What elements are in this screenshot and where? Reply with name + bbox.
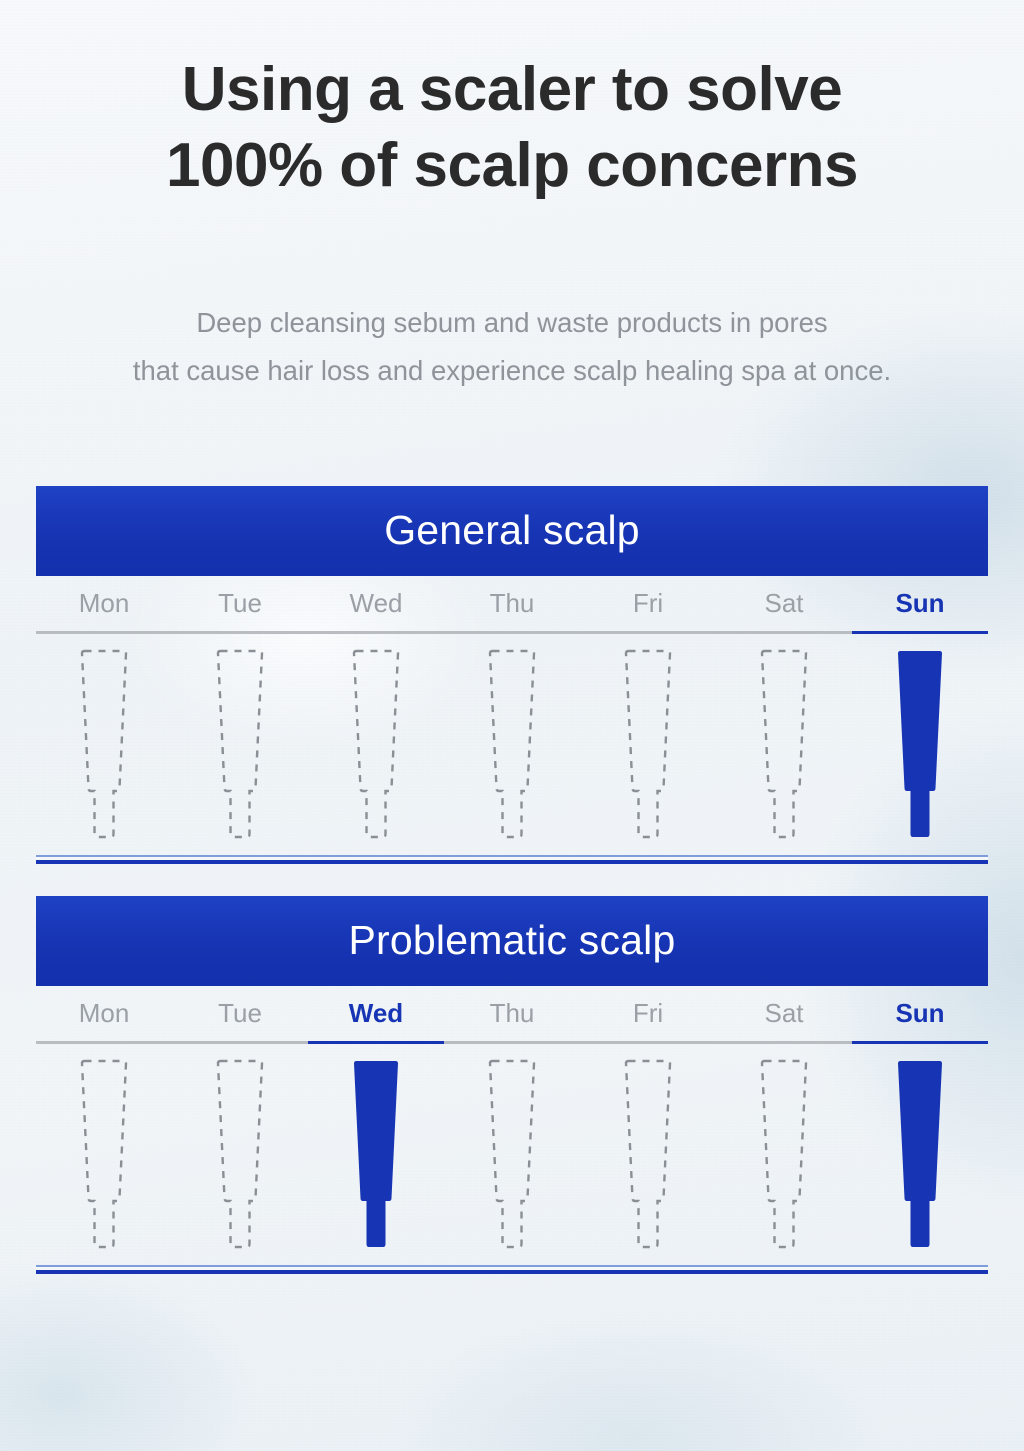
bottle-cell-wed[interactable] bbox=[308, 648, 444, 842]
page-subtitle-line-1: Deep cleansing sebum and waste products … bbox=[0, 299, 1024, 346]
day-tab-label: Thu bbox=[490, 588, 535, 618]
day-tab-label: Thu bbox=[490, 998, 535, 1028]
bottle-cell-sat[interactable] bbox=[716, 1058, 852, 1252]
banner-title: Problematic scalp bbox=[349, 917, 676, 964]
section-general-scalp: General scalp MonTueWedThuFriSatSun bbox=[36, 486, 988, 864]
bottle-icon-outline bbox=[617, 1058, 679, 1252]
bottle-icon-filled bbox=[889, 648, 951, 842]
bottle-shape bbox=[354, 651, 398, 837]
bottle-shape bbox=[762, 1061, 806, 1247]
day-tab-fri[interactable]: Fri bbox=[580, 998, 716, 1044]
bottle-shape bbox=[218, 651, 262, 837]
day-tab-fri[interactable]: Fri bbox=[580, 588, 716, 634]
baseline-rule-problematic bbox=[36, 1265, 988, 1274]
bottle-cell-thu[interactable] bbox=[444, 1058, 580, 1252]
day-tab-sat[interactable]: Sat bbox=[716, 588, 852, 634]
bottle-shape bbox=[490, 651, 534, 837]
day-tab-mon[interactable]: Mon bbox=[36, 998, 172, 1044]
day-tab-sun[interactable]: Sun bbox=[852, 998, 988, 1044]
bottle-cell-sun[interactable] bbox=[852, 1058, 988, 1252]
bottle-cell-sun[interactable] bbox=[852, 648, 988, 842]
baseline-thick-line bbox=[36, 1270, 988, 1274]
page-subtitle-line-2: that cause hair loss and experience scal… bbox=[0, 347, 1024, 394]
baseline-rule-general bbox=[36, 855, 988, 864]
bottle-row-problematic bbox=[36, 1044, 988, 1259]
bottle-shape bbox=[354, 1061, 398, 1247]
day-tab-wed[interactable]: Wed bbox=[308, 998, 444, 1044]
day-tab-label: Sat bbox=[764, 998, 803, 1028]
day-header-problematic: MonTueWedThuFriSatSun bbox=[36, 986, 988, 1044]
day-tab-label: Fri bbox=[633, 588, 663, 618]
day-tab-thu[interactable]: Thu bbox=[444, 998, 580, 1044]
bottle-shape bbox=[490, 1061, 534, 1247]
section-problematic-scalp: Problematic scalp MonTueWedThuFriSatSun bbox=[36, 896, 988, 1274]
bottle-shape bbox=[898, 1061, 942, 1247]
day-tab-thu[interactable]: Thu bbox=[444, 588, 580, 634]
bottle-icon-outline bbox=[73, 1058, 135, 1252]
bottle-icon-outline bbox=[481, 1058, 543, 1252]
bottle-icon-outline bbox=[209, 1058, 271, 1252]
bottle-shape bbox=[82, 1061, 126, 1247]
banner-problematic-scalp: Problematic scalp bbox=[36, 896, 988, 986]
banner-title: General scalp bbox=[384, 507, 640, 554]
banner-general-scalp: General scalp bbox=[36, 486, 988, 576]
day-tab-wed[interactable]: Wed bbox=[308, 588, 444, 634]
bottle-icon-filled bbox=[345, 1058, 407, 1252]
bottle-shape bbox=[626, 1061, 670, 1247]
day-tab-label: Mon bbox=[79, 588, 130, 618]
page-title: Using a scaler to solve 100% of scalp co… bbox=[0, 0, 1024, 203]
bottle-icon-outline bbox=[617, 648, 679, 842]
page-title-line-1: Using a scaler to solve bbox=[0, 52, 1024, 128]
bottle-icon-outline bbox=[753, 648, 815, 842]
bottle-icon-filled bbox=[889, 1058, 951, 1252]
bottle-cell-thu[interactable] bbox=[444, 648, 580, 842]
day-tab-label: Mon bbox=[79, 998, 130, 1028]
page-subtitle: Deep cleansing sebum and waste products … bbox=[0, 299, 1024, 394]
bottle-cell-fri[interactable] bbox=[580, 648, 716, 842]
day-tab-label: Tue bbox=[218, 588, 262, 618]
day-tab-label: Wed bbox=[349, 998, 403, 1028]
bottle-shape bbox=[82, 651, 126, 837]
bottle-row-general bbox=[36, 634, 988, 849]
day-tab-label: Wed bbox=[350, 588, 403, 618]
bottle-icon-outline bbox=[73, 648, 135, 842]
day-tab-sun[interactable]: Sun bbox=[852, 588, 988, 634]
day-header-general: MonTueWedThuFriSatSun bbox=[36, 576, 988, 634]
bottle-icon-outline bbox=[481, 648, 543, 842]
day-tab-tue[interactable]: Tue bbox=[172, 998, 308, 1044]
day-tab-label: Sat bbox=[764, 588, 803, 618]
bottle-cell-mon[interactable] bbox=[36, 648, 172, 842]
bottle-cell-fri[interactable] bbox=[580, 1058, 716, 1252]
bottle-shape bbox=[898, 651, 942, 837]
day-tab-mon[interactable]: Mon bbox=[36, 588, 172, 634]
bottle-icon-outline bbox=[345, 648, 407, 842]
bottle-cell-sat[interactable] bbox=[716, 648, 852, 842]
day-tab-label: Sun bbox=[895, 588, 944, 618]
day-tab-label: Fri bbox=[633, 998, 663, 1028]
day-tab-tue[interactable]: Tue bbox=[172, 588, 308, 634]
bottle-cell-wed[interactable] bbox=[308, 1058, 444, 1252]
day-tab-sat[interactable]: Sat bbox=[716, 998, 852, 1044]
bottle-icon-outline bbox=[209, 648, 271, 842]
baseline-thick-line bbox=[36, 860, 988, 864]
bottle-shape bbox=[762, 651, 806, 837]
page-content: Using a scaler to solve 100% of scalp co… bbox=[0, 0, 1024, 1274]
bottle-cell-mon[interactable] bbox=[36, 1058, 172, 1252]
bottle-cell-tue[interactable] bbox=[172, 648, 308, 842]
day-tab-label: Sun bbox=[895, 998, 944, 1028]
day-tab-label: Tue bbox=[218, 998, 262, 1028]
bottle-shape bbox=[626, 651, 670, 837]
bottle-shape bbox=[218, 1061, 262, 1247]
bottle-icon-outline bbox=[753, 1058, 815, 1252]
bottle-cell-tue[interactable] bbox=[172, 1058, 308, 1252]
page-title-line-2: 100% of scalp concerns bbox=[0, 128, 1024, 204]
